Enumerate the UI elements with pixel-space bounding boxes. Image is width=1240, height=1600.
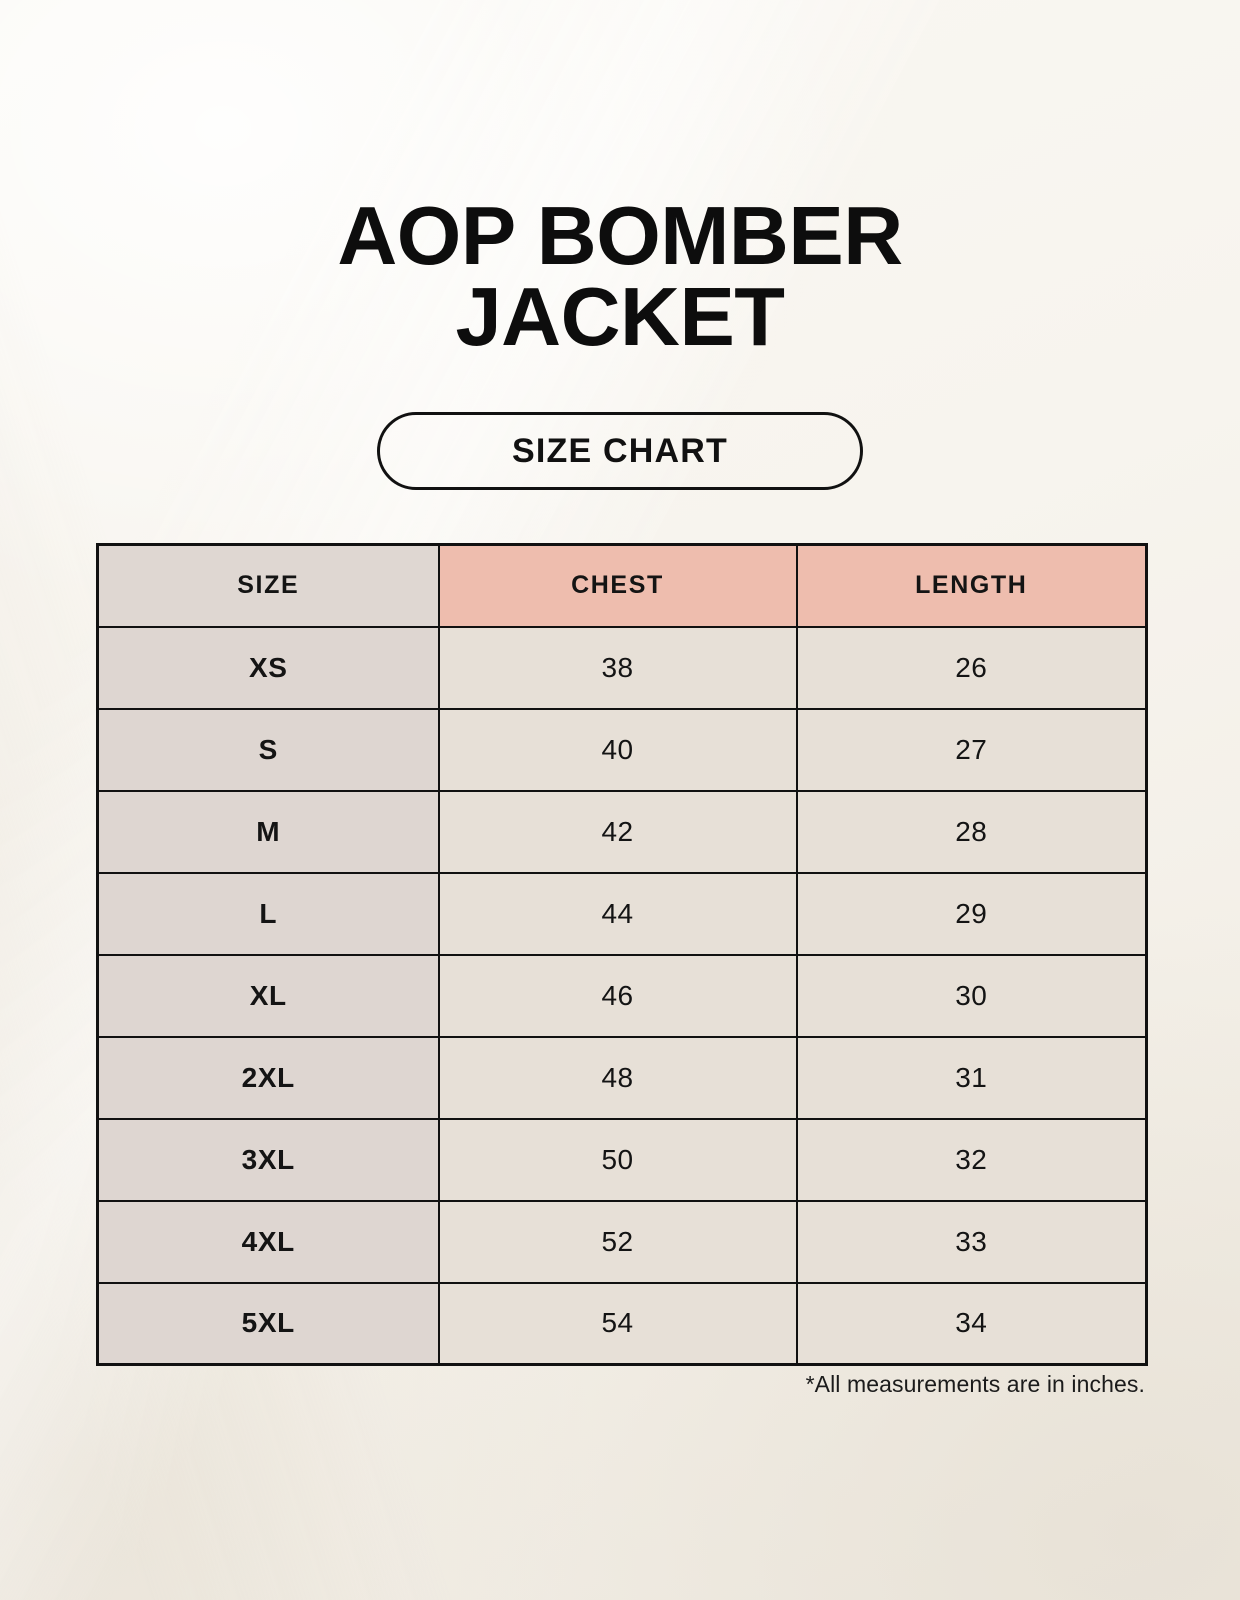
- size-table-body: XS3826S4027M4228L4429XL46302XL48313XL503…: [98, 627, 1147, 1365]
- size-table-container: SIZE CHEST LENGTH XS3826S4027M4228L4429X…: [96, 543, 1145, 1366]
- table-row: 3XL5032: [98, 1119, 1147, 1201]
- cell-length: 26: [797, 627, 1147, 709]
- cell-chest: 48: [439, 1037, 797, 1119]
- cell-size: 2XL: [98, 1037, 439, 1119]
- measurements-footnote: *All measurements are in inches.: [96, 1371, 1145, 1398]
- table-row: 2XL4831: [98, 1037, 1147, 1119]
- size-chart-badge-label: SIZE CHART: [512, 432, 728, 471]
- cell-size: 3XL: [98, 1119, 439, 1201]
- table-header-row: SIZE CHEST LENGTH: [98, 545, 1147, 627]
- table-row: M4228: [98, 791, 1147, 873]
- size-table-head: SIZE CHEST LENGTH: [98, 545, 1147, 627]
- cell-size: S: [98, 709, 439, 791]
- page-title-container: AOP BOMBER JACKET: [0, 196, 1240, 357]
- cell-length: 31: [797, 1037, 1147, 1119]
- cell-chest: 44: [439, 873, 797, 955]
- column-header-size: SIZE: [98, 545, 439, 627]
- cell-size: 5XL: [98, 1283, 439, 1365]
- cell-size: 4XL: [98, 1201, 439, 1283]
- size-chart-badge-container: SIZE CHART: [0, 412, 1240, 490]
- size-chart-badge: SIZE CHART: [377, 412, 863, 490]
- cell-length: 30: [797, 955, 1147, 1037]
- size-chart-page: AOP BOMBER JACKET SIZE CHART SIZE CHEST …: [0, 0, 1240, 1600]
- cell-length: 33: [797, 1201, 1147, 1283]
- cell-chest: 38: [439, 627, 797, 709]
- table-row: L4429: [98, 873, 1147, 955]
- cell-length: 32: [797, 1119, 1147, 1201]
- page-title: AOP BOMBER JACKET: [250, 196, 990, 357]
- cell-length: 28: [797, 791, 1147, 873]
- column-header-length: LENGTH: [797, 545, 1147, 627]
- table-row: 4XL5233: [98, 1201, 1147, 1283]
- cell-chest: 40: [439, 709, 797, 791]
- cell-length: 29: [797, 873, 1147, 955]
- cell-length: 27: [797, 709, 1147, 791]
- table-row: XS3826: [98, 627, 1147, 709]
- size-table: SIZE CHEST LENGTH XS3826S4027M4228L4429X…: [96, 543, 1148, 1366]
- cell-chest: 42: [439, 791, 797, 873]
- cell-size: L: [98, 873, 439, 955]
- cell-chest: 46: [439, 955, 797, 1037]
- cell-chest: 54: [439, 1283, 797, 1365]
- cell-chest: 52: [439, 1201, 797, 1283]
- table-row: XL4630: [98, 955, 1147, 1037]
- cell-size: XL: [98, 955, 439, 1037]
- cell-length: 34: [797, 1283, 1147, 1365]
- column-header-chest: CHEST: [439, 545, 797, 627]
- table-row: S4027: [98, 709, 1147, 791]
- cell-chest: 50: [439, 1119, 797, 1201]
- cell-size: XS: [98, 627, 439, 709]
- cell-size: M: [98, 791, 439, 873]
- table-row: 5XL5434: [98, 1283, 1147, 1365]
